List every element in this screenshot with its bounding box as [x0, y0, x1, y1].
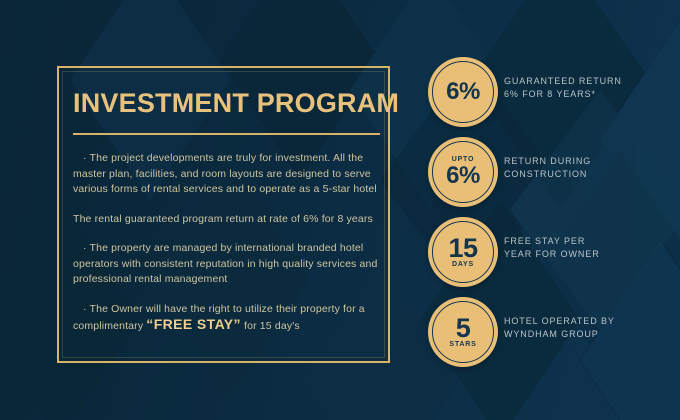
badge-coin: UPTO 6% — [428, 137, 498, 207]
badge-coin-sub: DAYS — [452, 261, 474, 269]
free-stay-emphasis: “FREE STAY” — [146, 316, 241, 332]
badge-coin: 5 STARS — [428, 297, 498, 367]
badge-label: RETURN DURING CONSTRUCTION — [504, 155, 591, 181]
badge-label-line1: RETURN DURING — [504, 156, 591, 166]
panel-body: · The project developments are truly for… — [73, 151, 381, 335]
badge-label-line1: HOTEL OPERATED BY — [504, 316, 615, 326]
badge-item: 15 DAYS FREE STAY PER YEAR FOR OWNER — [428, 217, 668, 297]
badge-label-line2: WYNDHAM GROUP — [504, 328, 615, 341]
badge-label-line2: CONSTRUCTION — [504, 168, 591, 181]
badge-label-line2: YEAR FOR OWNER — [504, 248, 600, 261]
page-title: INVESTMENT PROGRAM — [73, 88, 399, 119]
badge-coin-value: 6% — [446, 163, 480, 189]
badge-label: HOTEL OPERATED BY WYNDHAM GROUP — [504, 315, 615, 341]
free-stay-after: for 15 day's — [241, 320, 300, 332]
badge-label-line2: 6% FOR 8 YEARS* — [504, 88, 622, 101]
badge-list: 6% GUARANTEED RETURN 6% FOR 8 YEARS* UPT… — [428, 57, 668, 377]
investment-program-poster: INVESTMENT PROGRAM · The project develop… — [0, 0, 680, 420]
badge-coin-value: 6% — [446, 79, 480, 105]
badge-item: 5 STARS HOTEL OPERATED BY WYNDHAM GROUP — [428, 297, 668, 377]
paragraph-1: · The project developments are truly for… — [73, 151, 381, 198]
badge-coin-sub: STARS — [449, 341, 476, 349]
badge-label: FREE STAY PER YEAR FOR OWNER — [504, 235, 600, 261]
badge-coin-top: UPTO — [452, 156, 475, 164]
badge-coin: 15 DAYS — [428, 217, 498, 287]
badge-item: UPTO 6% RETURN DURING CONSTRUCTION — [428, 137, 668, 217]
paragraph-4: · The Owner will have the right to utili… — [73, 302, 381, 335]
paragraph-3: · The property are managed by internatio… — [73, 241, 381, 288]
title-divider — [73, 133, 380, 135]
investment-panel: INVESTMENT PROGRAM · The project develop… — [57, 66, 390, 363]
badge-item: 6% GUARANTEED RETURN 6% FOR 8 YEARS* — [428, 57, 668, 137]
badge-coin-value: 15 — [448, 234, 477, 262]
paragraph-2: The rental guaranteed program return at … — [73, 212, 381, 228]
badge-label-line1: GUARANTEED RETURN — [504, 76, 622, 86]
badge-coin-value: 5 — [456, 314, 471, 342]
badge-label-line1: FREE STAY PER — [504, 236, 585, 246]
badge-label: GUARANTEED RETURN 6% FOR 8 YEARS* — [504, 75, 622, 101]
badge-coin: 6% — [428, 57, 498, 127]
